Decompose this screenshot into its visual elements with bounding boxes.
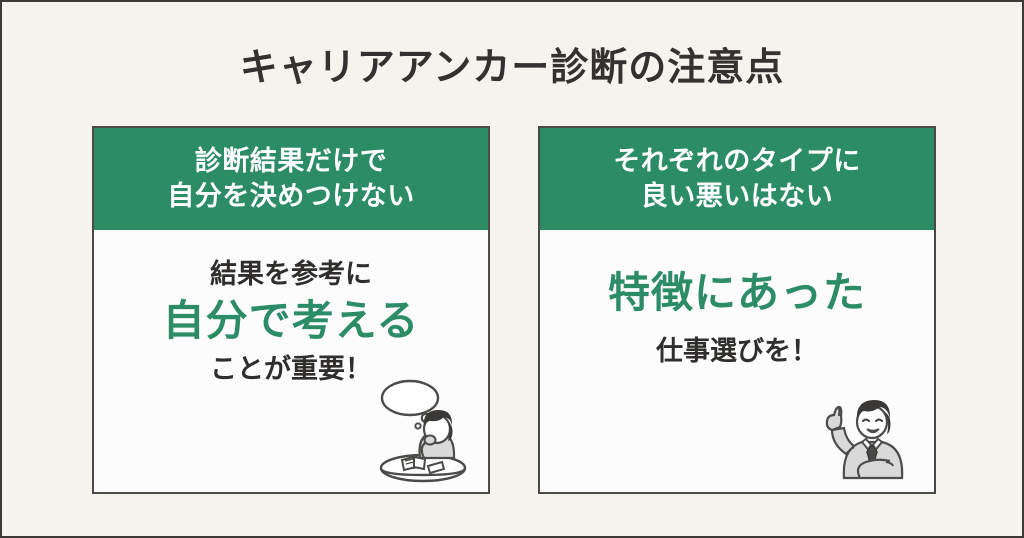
card-right-body-accent: 特徴にあった bbox=[608, 266, 866, 321]
pointing-businessman-icon bbox=[814, 374, 924, 484]
page-title: キャリアアンカー診断の注意点 bbox=[2, 36, 1022, 91]
card-left-header: 診断結果だけで 自分を決めつけない bbox=[94, 128, 488, 230]
card-right-header-line1: それぞれのタイプに bbox=[613, 144, 861, 179]
infographic-canvas: キャリアアンカー診断の注意点 診断結果だけで 自分を決めつけない 結果を参考に … bbox=[0, 0, 1024, 538]
card-right: それぞれのタイプに 良い悪いはない 特徴にあった 仕事選びを！ bbox=[538, 126, 936, 494]
card-left-body-line3: ことが重要！ bbox=[210, 351, 372, 387]
card-left-header-line2: 自分を決めつけない bbox=[167, 179, 415, 214]
card-left: 診断結果だけで 自分を決めつけない 結果を参考に 自分で考える ことが重要！ bbox=[92, 126, 490, 494]
card-left-body-accent: 自分で考える bbox=[163, 294, 420, 349]
card-right-header: それぞれのタイプに 良い悪いはない bbox=[540, 128, 934, 230]
card-left-body-line1: 結果を参考に bbox=[210, 256, 372, 292]
card-right-header-line2: 良い悪いはない bbox=[641, 179, 834, 214]
thinking-person-icon bbox=[368, 374, 478, 484]
card-left-header-line1: 診断結果だけで bbox=[195, 144, 388, 179]
card-left-body: 結果を参考に 自分で考える ことが重要！ bbox=[94, 230, 488, 492]
card-right-body: 特徴にあった 仕事選びを！ bbox=[540, 230, 934, 492]
card-right-body-line2: 仕事選びを！ bbox=[656, 333, 818, 369]
